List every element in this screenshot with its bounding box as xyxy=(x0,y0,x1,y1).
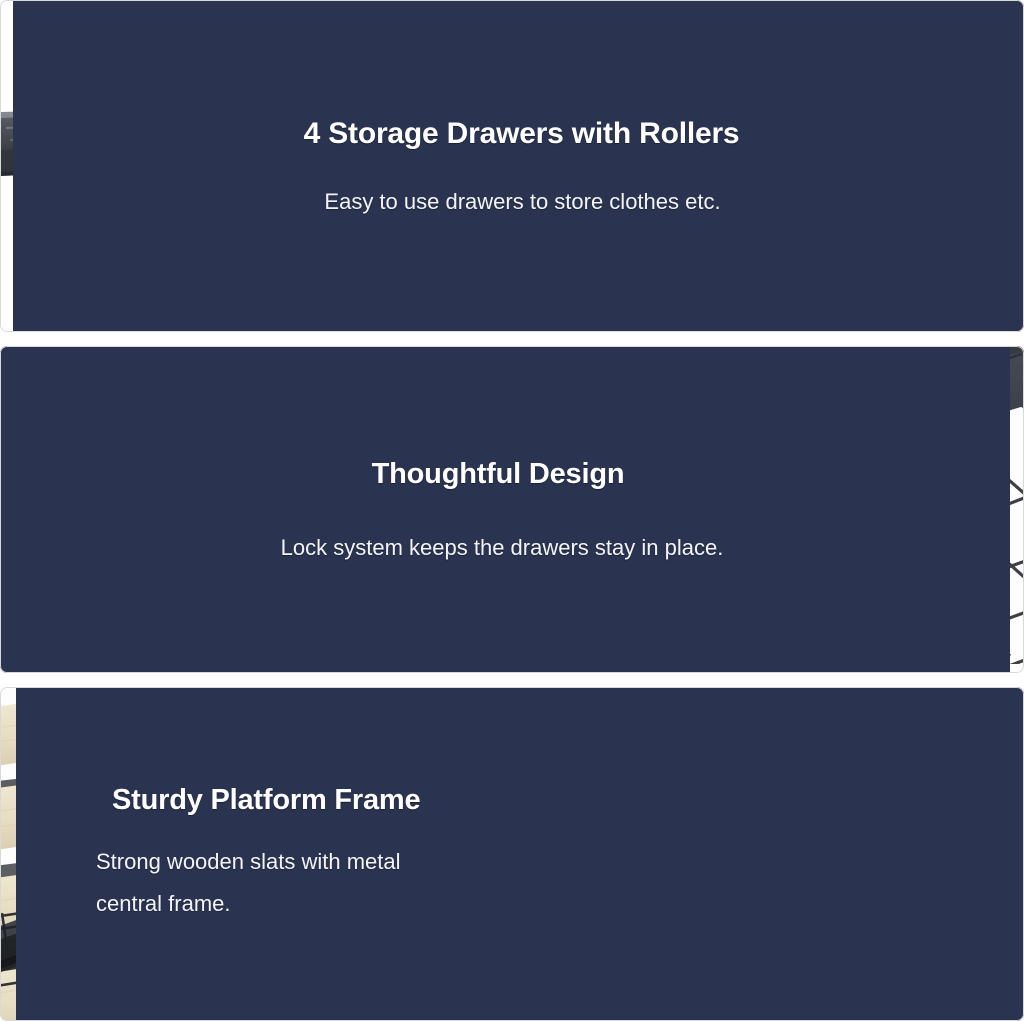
storage-drawers-text-block: 4 Storage Drawers with Rollers Easy to u… xyxy=(13,0,1024,332)
thoughtful-design-text-block: Thoughtful Design Lock system keeps the … xyxy=(0,346,1010,673)
panel-subtitle-storage-drawers: Easy to use drawers to store clothes etc… xyxy=(21,189,1024,215)
panel-title-sturdy-platform-frame: Sturdy Platform Frame xyxy=(112,784,1024,817)
panel-subtitle-sturdy-platform-frame: Strong wooden slats with metal central f… xyxy=(96,841,426,925)
panel-title-storage-drawers: 4 Storage Drawers with Rollers xyxy=(19,117,1024,151)
feature-panel-sturdy-platform-frame: Sturdy Platform Frame Strong wooden slat… xyxy=(0,687,1024,1021)
product-feature-infographic: 4 Storage Drawers with Rollers Easy to u… xyxy=(0,0,1024,1021)
panel-subtitle-thoughtful-design: Lock system keeps the drawers stay in pl… xyxy=(0,535,1010,561)
sturdy-platform-frame-text-block: Sturdy Platform Frame Strong wooden slat… xyxy=(16,687,1024,1021)
panel-title-thoughtful-design: Thoughtful Design xyxy=(0,458,1010,491)
feature-panel-thoughtful-design: Thoughtful Design Lock system keeps the … xyxy=(0,346,1024,673)
feature-panel-storage-drawers: 4 Storage Drawers with Rollers Easy to u… xyxy=(0,0,1024,332)
